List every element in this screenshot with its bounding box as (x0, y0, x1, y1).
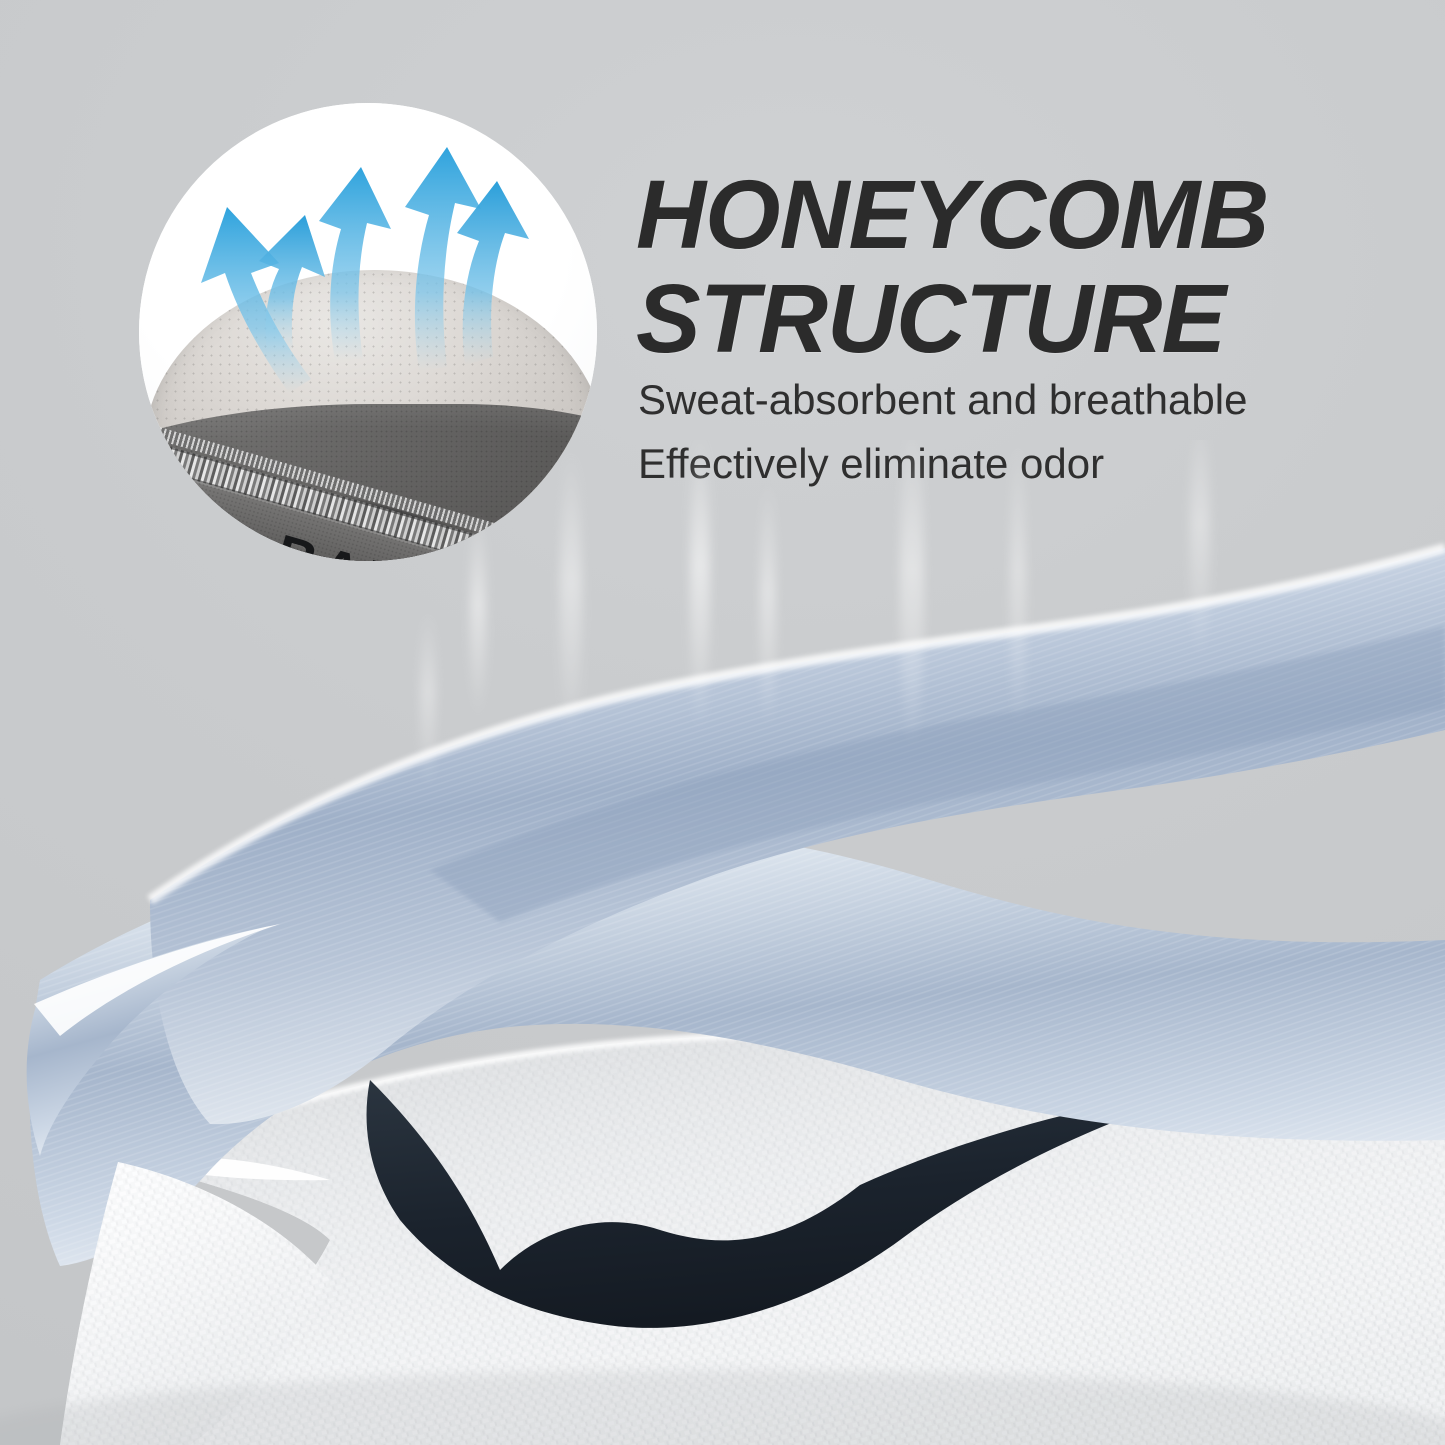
headline-line-1: HONEYCOMB (636, 163, 1316, 267)
fabric-wave-illustration (0, 440, 1445, 1445)
fabric-layers-svg (0, 440, 1445, 1445)
subheadline-line-1: Sweat-absorbent and breathable (638, 368, 1318, 432)
headline-line-2: STRUCTURE (636, 267, 1316, 371)
product-feature-graphic: BAMBO (0, 0, 1445, 1445)
headline: HONEYCOMB STRUCTURE (636, 163, 1316, 371)
